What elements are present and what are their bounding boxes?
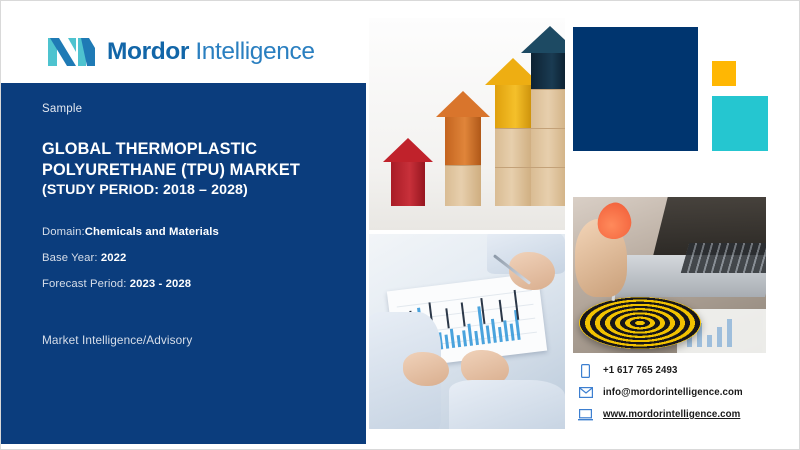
meta-domain: Domain:Chemicals and Materials [42, 226, 219, 238]
brand-logo[interactable]: Mordor Intelligence [48, 34, 315, 70]
contact-email-value: info@mordorintelligence.com [603, 387, 743, 398]
contact-phone-value: +1 617 765 2493 [603, 365, 678, 376]
wooden-block-houses-photo [369, 18, 565, 230]
navy-color-block [573, 27, 698, 151]
meta-domain-label: Domain: [42, 226, 85, 238]
company-tagline: Market Intelligence/Advisory [42, 333, 192, 347]
meta-base-year-value: 2022 [101, 252, 127, 264]
brand-wordmark: Mordor Intelligence [107, 40, 315, 65]
report-study-period: (STUDY PERIOD: 2018 – 2028) [42, 181, 342, 199]
meta-forecast-value: 2023 - 2028 [130, 278, 191, 290]
meta-base-year: Base Year: 2022 [42, 252, 126, 264]
contact-block: +1 617 765 2493 info@mordorintelligence.… [577, 361, 797, 427]
report-info-panel: Sample GLOBAL THERMOPLASTIC POLYURETHANE… [1, 83, 366, 444]
contact-website-value: www.mordorintelligence.com [603, 409, 740, 420]
report-cover-page: Mordor Intelligence Sample GLOBAL THERMO… [0, 0, 800, 450]
brand-name-bold: Mordor [107, 38, 189, 65]
mobile-phone-icon [577, 364, 594, 378]
contact-email-row[interactable]: info@mordorintelligence.com [577, 383, 797, 402]
contact-phone-row[interactable]: +1 617 765 2493 [577, 361, 797, 380]
envelope-icon [577, 387, 594, 398]
mordor-m-logo-icon [48, 34, 96, 70]
meta-base-year-label: Base Year: [42, 252, 98, 264]
business-chart-review-photo [369, 234, 565, 429]
sample-badge: Sample [42, 103, 82, 115]
dart-target-photo [573, 197, 766, 353]
cyan-color-block [712, 96, 768, 151]
yellow-color-block [712, 61, 736, 86]
meta-forecast-period: Forecast Period: 2023 - 2028 [42, 278, 191, 290]
report-title: GLOBAL THERMOPLASTIC POLYURETHANE (TPU) … [42, 139, 342, 200]
contact-website-row[interactable]: www.mordorintelligence.com [577, 405, 797, 424]
meta-domain-value: Chemicals and Materials [85, 226, 219, 238]
laptop-icon [577, 409, 594, 421]
laptop-keyboard [681, 243, 766, 273]
meta-forecast-label: Forecast Period: [42, 278, 126, 290]
brand-name-light: Intelligence [189, 38, 315, 65]
report-title-line-1: GLOBAL THERMOPLASTIC [42, 139, 342, 160]
report-title-line-2: POLYURETHANE (TPU) MARKET [42, 160, 342, 181]
dartboard-target [579, 297, 701, 349]
